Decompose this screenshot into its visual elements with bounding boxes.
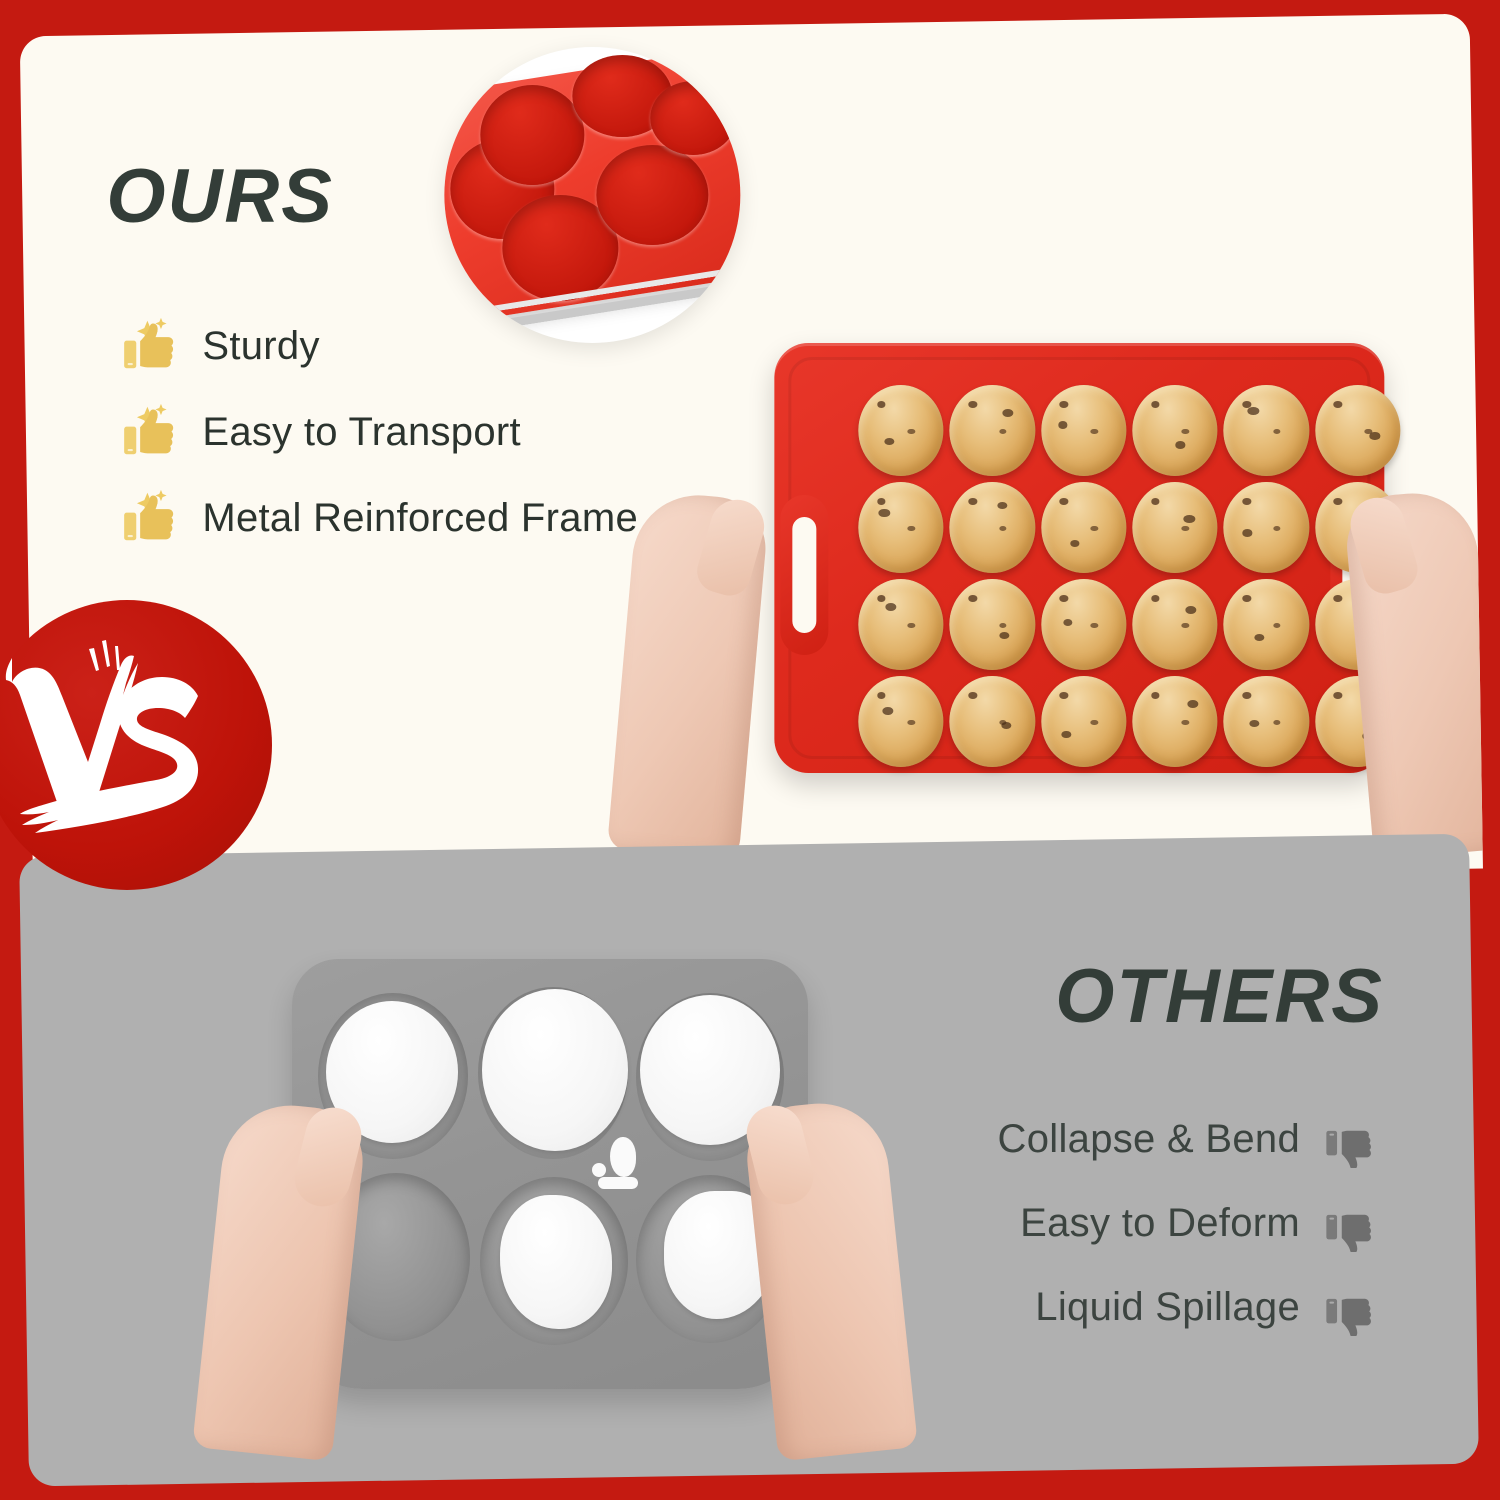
others-feature-label: Liquid Spillage [1035, 1285, 1300, 1330]
gray-silicone-pan [292, 959, 808, 1389]
vs-badge-icon [0, 600, 272, 890]
mold-cup [480, 85, 584, 185]
muffin [1132, 482, 1217, 573]
ours-product-photo [726, 325, 1446, 825]
muffin [1041, 579, 1126, 670]
thumbs-up-icon [118, 315, 180, 377]
thumbs-down-icon [1320, 1110, 1378, 1168]
muffin [950, 482, 1035, 573]
ours-heading: OURS [106, 153, 334, 240]
others-feature-item: Liquid Spillage [998, 1265, 1378, 1349]
muffin [1315, 385, 1400, 476]
muffin [1041, 385, 1126, 476]
thumbs-down-icon [1320, 1194, 1378, 1252]
comparison-infographic: OURS Sturdy [0, 0, 1500, 1500]
handle-hole [792, 517, 816, 633]
vs-badge [0, 600, 272, 890]
ours-closeup-inset [444, 47, 740, 343]
muffin [858, 385, 943, 476]
muffin [1132, 579, 1217, 670]
others-panel: OTHERS Collapse & Bend Easy [19, 834, 1479, 1487]
thumbs-down-icon [1320, 1278, 1378, 1336]
ours-feature-label: Metal Reinforced Frame [202, 495, 638, 540]
others-heading: OTHERS [1055, 953, 1384, 1040]
muffin [1224, 676, 1309, 767]
ours-feature-label: Easy to Transport [202, 409, 521, 454]
others-product-photo [204, 945, 904, 1465]
muffin-grid [856, 383, 1402, 769]
muffin [858, 579, 943, 670]
mold-cup [650, 81, 736, 155]
spilled-batter [500, 1195, 612, 1329]
others-panel-content: OTHERS Collapse & Bend Easy [24, 845, 1474, 1475]
ours-feature-item: Easy to Transport [118, 389, 638, 475]
muffin [1224, 579, 1309, 670]
others-feature-item: Collapse & Bend [998, 1097, 1378, 1181]
ours-feature-label: Sturdy [202, 323, 319, 368]
batter-droplet [598, 1177, 638, 1189]
muffin [1224, 482, 1309, 573]
spilled-batter [482, 989, 628, 1151]
others-feature-item: Easy to Deform [998, 1181, 1378, 1265]
muffin [1132, 676, 1217, 767]
others-feature-list: Collapse & Bend Easy to Deform [998, 1097, 1378, 1349]
muffin [1041, 482, 1126, 573]
ours-feature-item: Metal Reinforced Frame [118, 475, 638, 561]
others-feature-label: Collapse & Bend [998, 1117, 1300, 1162]
muffin [950, 385, 1035, 476]
thumbs-up-icon [118, 401, 180, 463]
thumbs-up-icon [118, 487, 180, 549]
batter-droplet [610, 1137, 636, 1177]
others-feature-label: Easy to Deform [1020, 1201, 1300, 1246]
batter-droplet [592, 1163, 606, 1177]
muffin [858, 676, 943, 767]
red-muffin-tray [774, 343, 1384, 773]
tray-handle-left [780, 495, 828, 655]
muffin [858, 482, 943, 573]
muffin [1041, 676, 1126, 767]
muffin [950, 676, 1035, 767]
muffin [1224, 385, 1309, 476]
ours-feature-list: Sturdy Easy to Transport [118, 303, 638, 561]
muffin [950, 579, 1035, 670]
muffin [1132, 385, 1217, 476]
